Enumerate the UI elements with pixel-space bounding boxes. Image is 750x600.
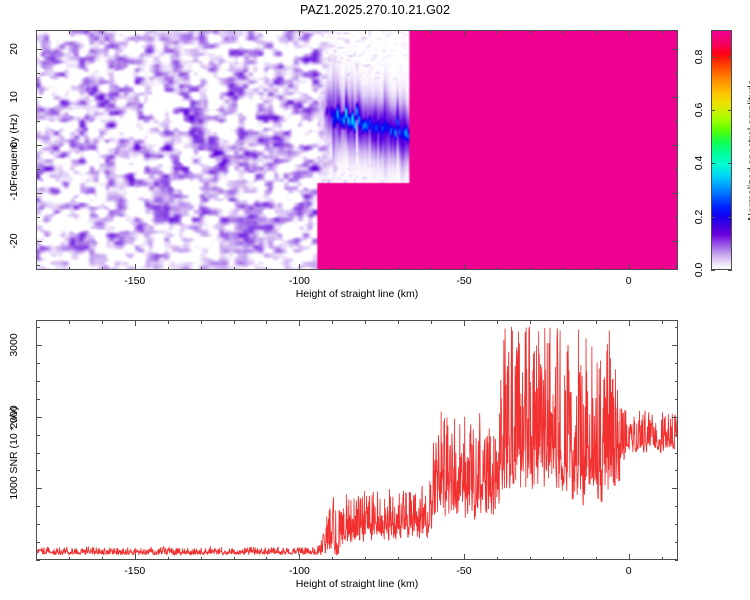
y-tick xyxy=(36,488,42,489)
x-tick xyxy=(299,30,300,36)
x-tick xyxy=(102,30,103,34)
y-tick xyxy=(672,49,678,50)
colorbar-gradient xyxy=(712,31,731,269)
snr-line-series xyxy=(37,321,677,559)
x-tick xyxy=(398,267,399,271)
x-tick xyxy=(201,30,202,34)
colorbar-tick-label: 0.2 xyxy=(693,209,705,224)
x-tick xyxy=(497,30,498,34)
y-tick xyxy=(36,265,40,266)
x-tick xyxy=(135,320,136,326)
y-tick xyxy=(36,121,40,122)
y-tick xyxy=(36,345,42,346)
y-tick-label: -10 xyxy=(8,186,20,201)
x-tick xyxy=(497,557,498,561)
x-tick xyxy=(563,30,564,34)
y-tick xyxy=(675,506,679,507)
x-tick xyxy=(629,264,630,270)
x-tick xyxy=(234,557,235,561)
y-tick xyxy=(36,145,42,146)
x-tick-label: 0 xyxy=(626,565,632,577)
x-tick xyxy=(431,320,432,324)
x-tick xyxy=(299,554,300,560)
x-tick xyxy=(530,30,531,34)
figure-root: PAZ1.2025.270.10.21.G02 -150-100-500-20-… xyxy=(0,0,750,600)
x-tick xyxy=(299,320,300,326)
x-tick xyxy=(168,557,169,561)
y-tick xyxy=(36,193,42,194)
x-tick xyxy=(201,557,202,561)
colorbar-title: Normalized spectral amplitude xyxy=(746,79,750,220)
x-tick xyxy=(662,267,663,271)
snr-axes xyxy=(36,320,678,560)
y-tick xyxy=(675,217,679,218)
x-tick xyxy=(102,267,103,271)
y-tick xyxy=(36,506,40,507)
colorbar-tick xyxy=(728,270,732,271)
x-tick-label: -100 xyxy=(289,275,310,287)
x-tick xyxy=(332,30,333,34)
y-tick xyxy=(672,97,678,98)
spectrogram-xaxis-title: Height of straight line (km) xyxy=(296,288,419,300)
x-tick xyxy=(69,557,70,561)
y-tick xyxy=(675,399,679,400)
spectrogram-axes xyxy=(36,30,678,270)
y-tick xyxy=(675,121,679,122)
x-tick xyxy=(36,267,37,271)
colorbar-tick xyxy=(711,163,715,164)
x-tick xyxy=(69,267,70,271)
colorbar-tick xyxy=(728,110,732,111)
x-tick xyxy=(398,30,399,34)
x-tick xyxy=(365,30,366,34)
x-tick xyxy=(266,267,267,271)
x-tick xyxy=(596,267,597,271)
x-tick xyxy=(530,320,531,324)
y-tick xyxy=(675,524,679,525)
x-tick xyxy=(629,554,630,560)
y-tick xyxy=(675,265,679,266)
x-tick xyxy=(36,30,37,34)
x-tick xyxy=(431,557,432,561)
x-tick xyxy=(266,557,267,561)
figure-title: PAZ1.2025.270.10.21.G02 xyxy=(0,3,750,17)
x-tick xyxy=(662,30,663,34)
y-tick xyxy=(672,488,678,489)
x-tick xyxy=(365,267,366,271)
x-tick xyxy=(365,320,366,324)
x-tick xyxy=(464,30,465,36)
x-tick xyxy=(234,267,235,271)
y-tick xyxy=(36,169,40,170)
x-tick xyxy=(234,30,235,34)
x-tick xyxy=(135,554,136,560)
colorbar-tick xyxy=(711,217,715,218)
x-tick xyxy=(431,30,432,34)
x-tick xyxy=(332,267,333,271)
colorbar-tick-label: 0.0 xyxy=(693,263,705,278)
y-tick xyxy=(36,49,42,50)
colorbar-tick-label: 0.6 xyxy=(693,103,705,118)
y-tick xyxy=(672,345,678,346)
x-tick xyxy=(398,557,399,561)
colorbar-tick xyxy=(728,217,732,218)
x-tick xyxy=(365,557,366,561)
x-tick xyxy=(464,320,465,326)
y-tick-label: 1000 xyxy=(8,477,20,500)
x-tick xyxy=(332,320,333,324)
x-tick-label: 0 xyxy=(626,275,632,287)
colorbar-tick xyxy=(711,57,715,58)
y-tick xyxy=(36,381,40,382)
colorbar-tick xyxy=(728,163,732,164)
x-tick xyxy=(530,267,531,271)
colorbar-tick-label: 0.4 xyxy=(693,156,705,171)
x-tick xyxy=(201,320,202,324)
x-tick xyxy=(431,267,432,271)
x-tick xyxy=(332,557,333,561)
x-tick-label: -150 xyxy=(124,275,145,287)
y-tick xyxy=(36,560,40,561)
x-tick xyxy=(464,264,465,270)
x-tick xyxy=(563,267,564,271)
y-tick xyxy=(675,327,679,328)
x-tick xyxy=(563,320,564,324)
x-tick xyxy=(662,320,663,324)
x-tick xyxy=(398,320,399,324)
y-tick xyxy=(675,381,679,382)
colorbar xyxy=(711,30,732,270)
x-tick xyxy=(69,320,70,324)
y-tick xyxy=(36,417,42,418)
colorbar-tick xyxy=(711,270,715,271)
y-tick xyxy=(675,453,679,454)
y-tick xyxy=(672,241,678,242)
x-tick-label: -50 xyxy=(456,565,471,577)
y-tick xyxy=(675,73,679,74)
x-tick xyxy=(69,30,70,34)
colorbar-tick xyxy=(728,57,732,58)
x-tick xyxy=(530,557,531,561)
y-tick-label: 10 xyxy=(8,91,20,103)
y-tick xyxy=(675,470,679,471)
x-tick xyxy=(596,30,597,34)
y-tick xyxy=(675,542,679,543)
y-tick xyxy=(36,73,40,74)
snr-xaxis-title: Height of straight line (km) xyxy=(296,578,419,590)
spectrogram-image xyxy=(37,31,677,269)
x-tick xyxy=(102,557,103,561)
x-tick-label: -50 xyxy=(456,275,471,287)
x-tick xyxy=(135,30,136,36)
spectrogram-yaxis-title: Frequency (Hz) xyxy=(8,114,20,186)
x-tick-label: -100 xyxy=(289,565,310,577)
x-tick xyxy=(102,320,103,324)
x-tick xyxy=(266,30,267,34)
y-tick-label: 3000 xyxy=(8,333,20,356)
y-tick xyxy=(672,145,678,146)
y-tick xyxy=(36,435,40,436)
y-tick xyxy=(675,435,679,436)
y-tick xyxy=(36,453,40,454)
x-tick xyxy=(629,320,630,326)
y-tick xyxy=(36,399,40,400)
spectrogram-plot-area xyxy=(37,31,677,269)
x-tick xyxy=(629,30,630,36)
snr-plot-area xyxy=(37,321,677,559)
x-tick xyxy=(497,267,498,271)
x-tick xyxy=(135,264,136,270)
x-tick xyxy=(299,264,300,270)
x-tick xyxy=(168,320,169,324)
y-tick xyxy=(36,97,42,98)
y-tick xyxy=(36,363,40,364)
x-tick xyxy=(464,554,465,560)
x-tick xyxy=(36,320,37,324)
x-tick xyxy=(497,320,498,324)
y-tick-label: 20 xyxy=(8,43,20,55)
x-tick xyxy=(201,267,202,271)
colorbar-tick xyxy=(711,110,715,111)
y-tick xyxy=(36,241,42,242)
x-tick xyxy=(234,320,235,324)
x-tick xyxy=(266,320,267,324)
x-tick xyxy=(596,320,597,324)
y-tick xyxy=(675,169,679,170)
x-tick xyxy=(168,267,169,271)
y-tick xyxy=(36,217,40,218)
y-tick-label: -20 xyxy=(8,234,20,249)
x-tick xyxy=(168,30,169,34)
y-tick xyxy=(36,542,40,543)
x-tick-label: -150 xyxy=(124,565,145,577)
y-tick xyxy=(36,470,40,471)
y-tick xyxy=(36,327,40,328)
y-tick xyxy=(672,417,678,418)
y-tick xyxy=(675,560,679,561)
colorbar-tick-label: 0.8 xyxy=(693,49,705,64)
snr-yaxis-title: SNR (10 * v/v) xyxy=(8,406,20,473)
x-tick xyxy=(596,557,597,561)
x-tick xyxy=(662,557,663,561)
y-tick xyxy=(675,363,679,364)
x-tick xyxy=(563,557,564,561)
y-tick xyxy=(36,524,40,525)
y-tick xyxy=(672,193,678,194)
